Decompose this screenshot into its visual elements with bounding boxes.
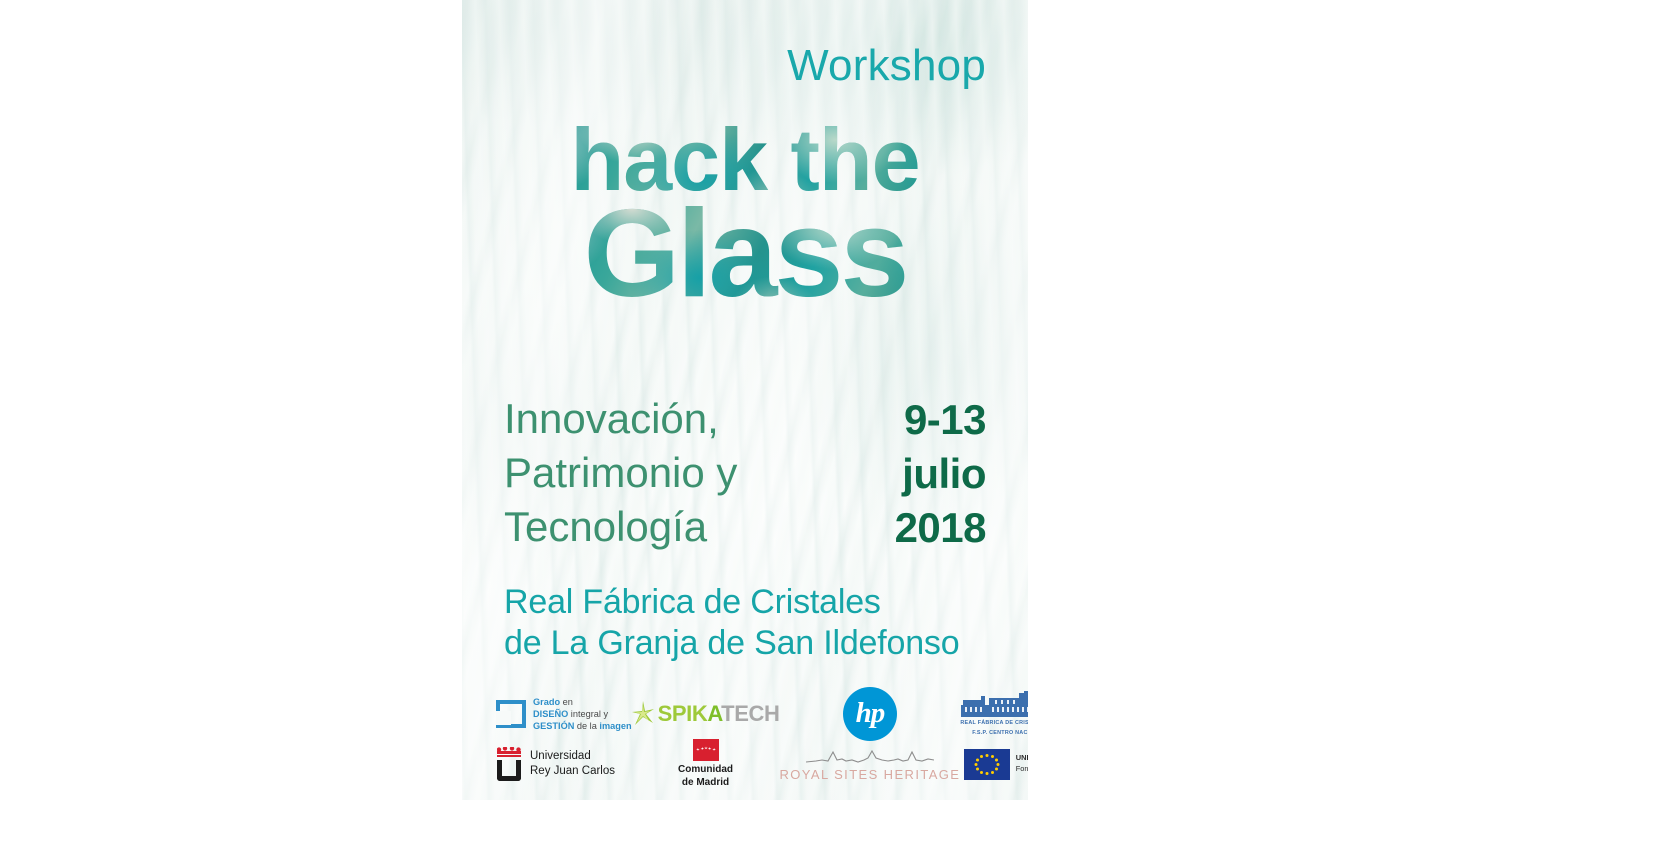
spikatech-wordmark: SPIKATECH (658, 701, 780, 727)
event-poster: Workshop hack the Glass Innovación, Patr… (462, 0, 1028, 800)
logo-universidad-rey-juan-carlos: Universidad Rey Juan Carlos (488, 738, 632, 790)
poster-title: hack the Glass (462, 118, 1028, 313)
madrid-flag-icon (693, 739, 719, 761)
poster-venue-line-2: de La Granja de San Ildefonso (504, 623, 998, 664)
grado-l1-rest: en (560, 697, 573, 707)
hp-wordmark: hp (843, 687, 897, 741)
real-fabrica-caption-line-1: REAL FÁBRICA DE CRISTALES DE LA GRANJA (960, 719, 1028, 727)
logo-grado-diseno: Grado en DISEÑO integral y GESTIÓN de la… (488, 690, 632, 738)
logo-real-fabrica-de-cristales: REAL FÁBRICA DE CRISTALES DE LA GRANJA F… (960, 690, 1028, 738)
poster-date-year: 2018 (895, 501, 986, 555)
urjc-u-letter (497, 760, 521, 781)
grado-l3-mid: de la (574, 721, 599, 731)
eu-line-2: Fondo Social Europeo (1016, 764, 1028, 775)
poster-subtitle-line-2: Patrimonio y (504, 446, 737, 500)
eu-text: UNIÓN EUROPEA Fondo Social Europeo (1016, 753, 1028, 774)
sponsor-logo-strip: Grado en DISEÑO integral y GESTIÓN de la… (488, 690, 1002, 790)
screenshot-canvas: Workshop hack the Glass Innovación, Patr… (0, 0, 1653, 845)
logo-hp: hp (779, 690, 960, 738)
cm-line-1: Comunidad (678, 764, 733, 777)
madrid-stars-icon (696, 746, 716, 755)
poster-date: 9-13 julio 2018 (895, 392, 986, 554)
poster-subtitle-line-1: Innovación, (504, 392, 737, 446)
logo-comunidad-de-madrid: Comunidad de Madrid (632, 738, 780, 790)
crown-icon (497, 747, 521, 757)
poster-subtitle: Innovación, Patrimonio y Tecnología (504, 392, 737, 553)
eu-line-1: UNIÓN EUROPEA (1016, 753, 1028, 764)
spika-part-3: TECH (721, 701, 779, 726)
poster-eyebrow-workshop: Workshop (787, 44, 986, 88)
poster-date-month: julio (895, 447, 986, 501)
skyline-line-icon (806, 746, 934, 766)
urjc-line-2: Rey Juan Carlos (530, 764, 615, 779)
palace-building-icon (961, 691, 1028, 717)
royal-sites-heritage-wordmark: ROYAL SITES HERITAGE (779, 767, 960, 782)
logo-royal-sites-heritage: ROYAL SITES HERITAGE (779, 738, 960, 790)
poster-title-line-2: Glass (462, 196, 1028, 314)
grado-bracket-icon (496, 700, 526, 728)
eu-flag-icon (964, 749, 1010, 780)
spika-part-2: A (707, 701, 721, 726)
poster-venue: Real Fábrica de Cristales de La Granja d… (504, 582, 998, 665)
grado-l2-rest: integral y (568, 709, 608, 719)
urjc-line-1: Universidad (530, 749, 615, 764)
spika-spark-icon (632, 701, 654, 727)
grado-l1-strong: Grado (533, 697, 560, 707)
poster-subtitle-and-date: Innovación, Patrimonio y Tecnología 9-13… (504, 392, 986, 554)
spika-part-1: SPIK (658, 701, 708, 726)
logo-grado-diseno-text: Grado en DISEÑO integral y GESTIÓN de la… (533, 696, 632, 732)
grado-l2-strong: DISEÑO (533, 709, 568, 719)
comunidad-madrid-text: Comunidad de Madrid (678, 764, 733, 789)
poster-venue-line-1: Real Fábrica de Cristales (504, 582, 998, 623)
real-fabrica-caption-line-2: F.S.P. CENTRO NACIONAL DEL VIDRIO (972, 729, 1028, 737)
urjc-text: Universidad Rey Juan Carlos (530, 749, 615, 779)
cm-line-2: de Madrid (678, 777, 733, 790)
grado-l3-end: imagen (599, 721, 631, 731)
grado-l3-strong: GESTIÓN (533, 721, 574, 731)
poster-date-days: 9-13 (895, 393, 986, 447)
eu-stars-icon (964, 749, 1010, 780)
logo-spikatech: SPIKATECH (632, 690, 780, 738)
poster-subtitle-line-3: Tecnología (504, 500, 737, 554)
logo-union-europea: UNIÓN EUROPEA Fondo Social Europeo (960, 738, 1028, 790)
